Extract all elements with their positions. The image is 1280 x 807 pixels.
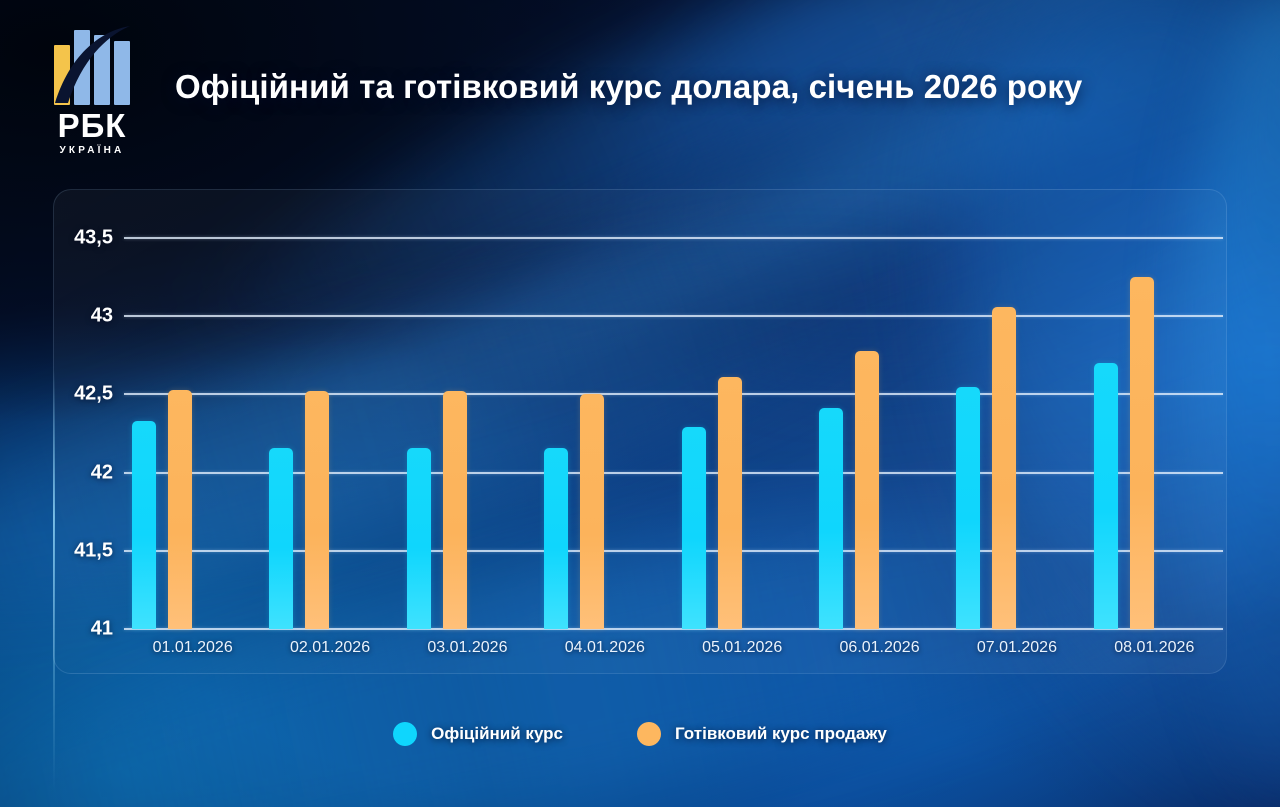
x-axis-tick-label: 06.01.2026	[800, 639, 960, 657]
bar-group	[948, 238, 1085, 629]
bar-cash-rate[interactable]	[992, 307, 1016, 629]
bar-cash-rate[interactable]	[1130, 277, 1154, 629]
legend-color-swatch-icon	[393, 722, 417, 746]
page-title: Офіційний та готівковий курс долара, січ…	[175, 68, 1235, 106]
bar-cash-rate[interactable]	[168, 390, 192, 629]
bar-group	[124, 238, 261, 629]
bar-official-rate[interactable]	[956, 387, 980, 629]
bar-group	[261, 238, 398, 629]
chart-panel: 43,54342,54241,541 01.01.202602.01.20260…	[53, 189, 1227, 674]
chart-bars	[124, 238, 1223, 629]
legend-color-swatch-icon	[637, 722, 661, 746]
bar-official-rate[interactable]	[1094, 363, 1118, 629]
bar-cash-rate[interactable]	[580, 394, 604, 629]
y-axis-tick-label: 43,5	[3, 227, 113, 250]
x-axis-tick-label: 08.01.2026	[1074, 639, 1234, 657]
x-axis-tick-label: 04.01.2026	[525, 639, 685, 657]
x-axis-tick-label: 03.01.2026	[387, 639, 547, 657]
logo-swoosh-icon	[52, 25, 132, 107]
bar-group	[399, 238, 536, 629]
y-axis-tick-label: 41,5	[3, 539, 113, 562]
legend-item[interactable]: Готівковий курс продажу	[637, 722, 887, 746]
bar-cash-rate[interactable]	[855, 351, 879, 629]
x-axis-tick-label: 07.01.2026	[937, 639, 1097, 657]
legend-item[interactable]: Офіційний курс	[393, 722, 563, 746]
y-axis-tick-label: 43	[3, 305, 113, 328]
y-axis-tick-label: 41	[3, 618, 113, 641]
bar-group	[536, 238, 673, 629]
chart-plot-area: 43,54342,54241,541 01.01.202602.01.20260…	[124, 238, 1223, 629]
bar-official-rate[interactable]	[544, 448, 568, 629]
x-axis-tick-label: 01.01.2026	[113, 639, 273, 657]
legend-label: Готівковий курс продажу	[675, 724, 887, 744]
rbk-ukraine-logo: РБК УКРАЇНА	[50, 27, 134, 151]
logo-wordmark: РБК	[50, 109, 134, 143]
header: РБК УКРАЇНА Офіційний та готівковий курс…	[0, 0, 1280, 180]
legend-label: Офіційний курс	[431, 724, 563, 744]
y-axis-tick-label: 42	[3, 461, 113, 484]
bar-cash-rate[interactable]	[718, 377, 742, 629]
bar-official-rate[interactable]	[269, 448, 293, 629]
bar-official-rate[interactable]	[682, 427, 706, 629]
x-axis-tick-label: 05.01.2026	[662, 639, 822, 657]
bar-official-rate[interactable]	[819, 408, 843, 629]
bar-group	[1086, 238, 1223, 629]
bar-cash-rate[interactable]	[443, 391, 467, 629]
bar-official-rate[interactable]	[132, 421, 156, 629]
bar-group	[811, 238, 948, 629]
bar-group	[674, 238, 811, 629]
logo-subtitle: УКРАЇНА	[50, 145, 134, 157]
x-axis-tick-label: 02.01.2026	[250, 639, 410, 657]
bar-cash-rate[interactable]	[305, 391, 329, 629]
chart-legend: Офіційний курсГотівковий курс продажу	[0, 722, 1280, 746]
y-axis-tick-label: 42,5	[3, 383, 113, 406]
bar-official-rate[interactable]	[407, 448, 431, 629]
